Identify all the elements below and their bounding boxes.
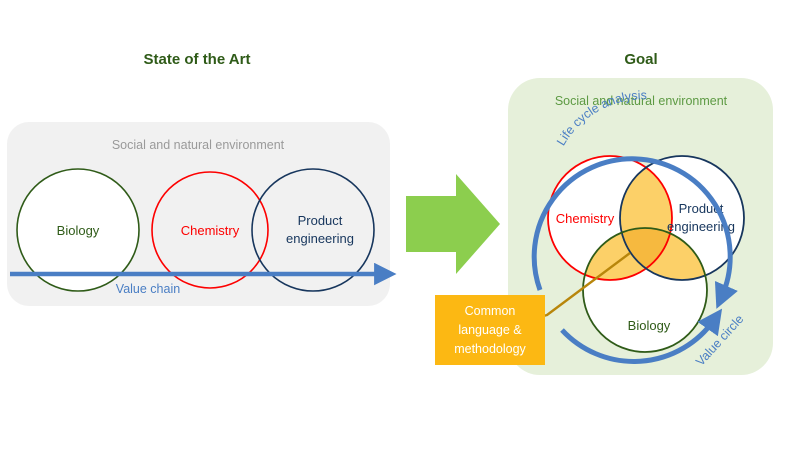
callout-line-2: language & <box>458 323 522 337</box>
callout-line-1: Common <box>465 304 516 318</box>
left-environment-label: Social and natural environment <box>112 138 285 152</box>
value-chain-label: Value chain <box>116 282 180 296</box>
left-label-biology: Biology <box>57 223 100 238</box>
right-label-biology: Biology <box>628 318 671 333</box>
callout-line-3: methodology <box>454 342 526 356</box>
left-panel-title: State of the Art <box>144 51 251 68</box>
diagram-canvas: State of the Art Social and natural envi… <box>0 0 800 450</box>
right-panel-title: Goal <box>624 51 657 68</box>
left-label-product: Product <box>298 213 343 228</box>
right-label-chemistry: Chemistry <box>556 211 615 226</box>
left-label-engineering: engineering <box>286 231 354 246</box>
left-label-chemistry: Chemistry <box>181 223 240 238</box>
